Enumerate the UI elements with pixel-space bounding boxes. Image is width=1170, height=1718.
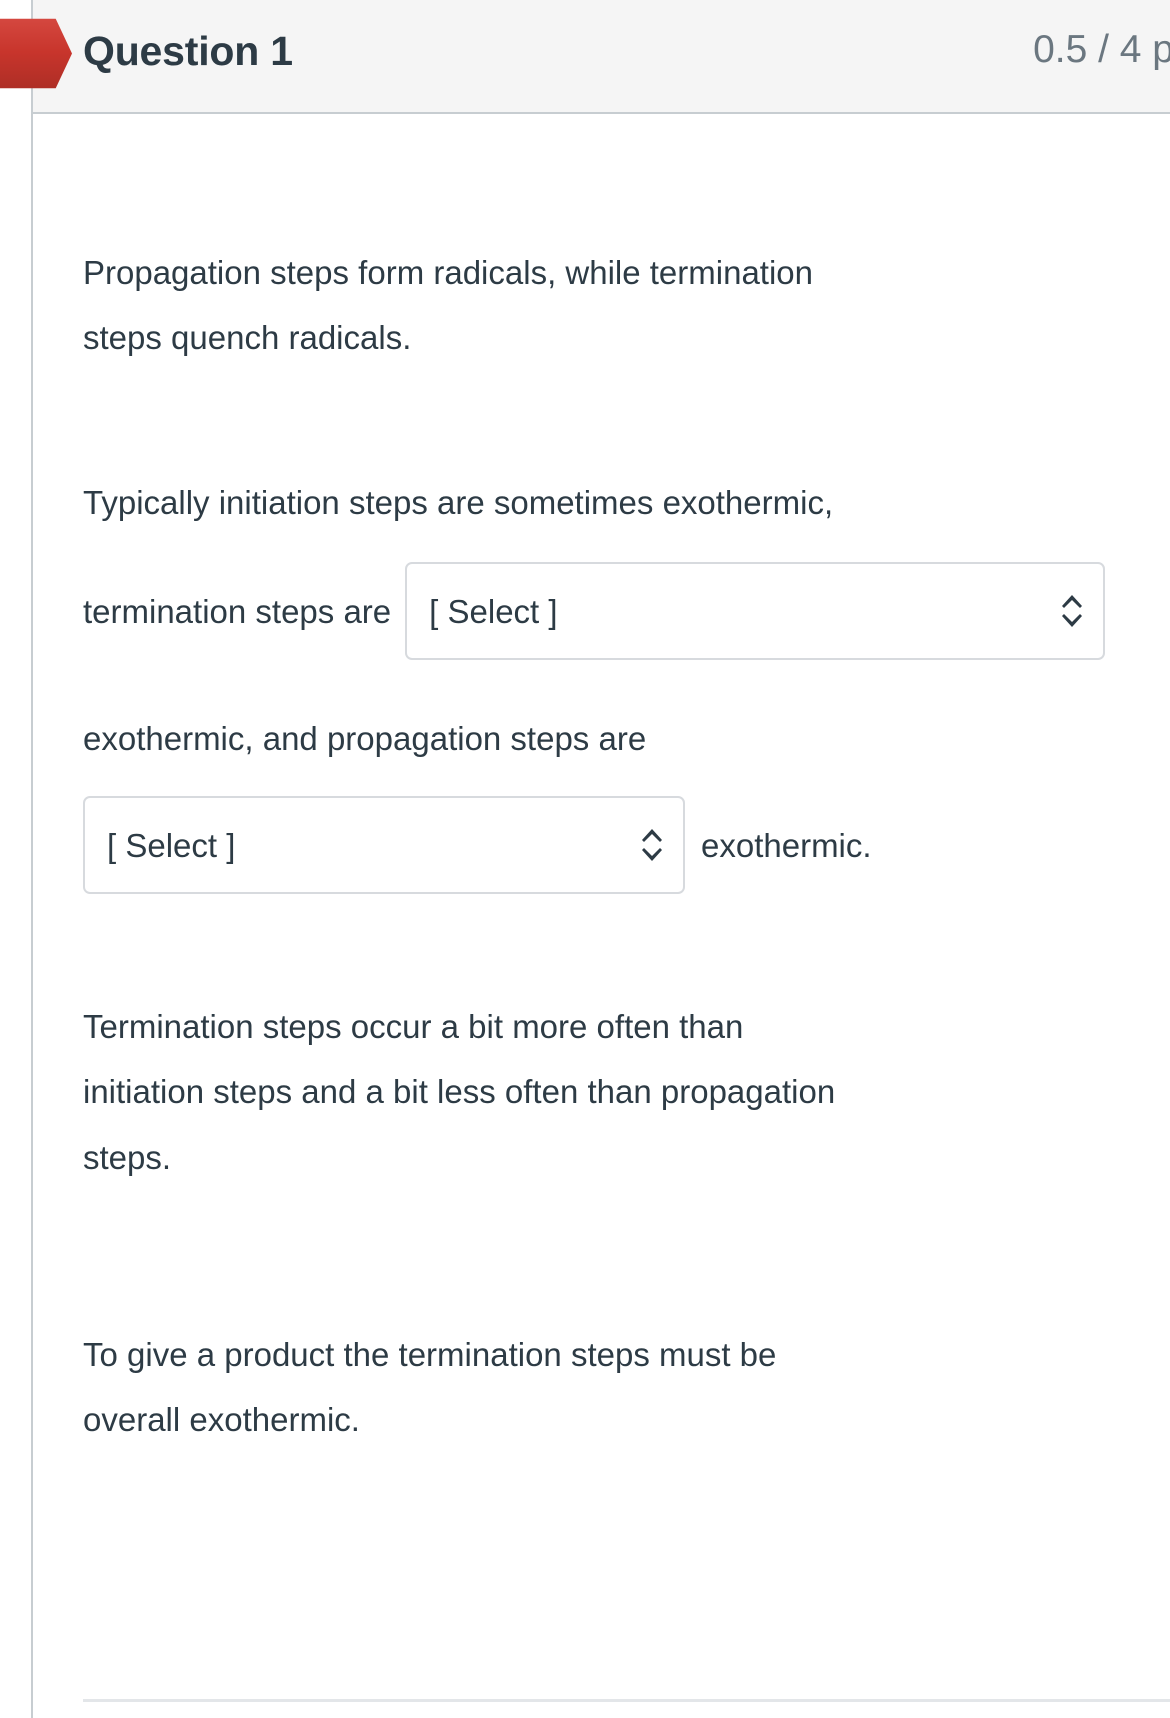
- select-dropdown-2-value: [ Select ]: [107, 829, 617, 862]
- select-dropdown-1-value: [ Select ]: [429, 595, 1037, 628]
- question-paragraph-1: Propagation steps form radicals, while t…: [83, 240, 813, 371]
- paragraph-line: steps quench radicals.: [83, 305, 813, 370]
- paragraph-line: Typically initiation steps are sometimes…: [83, 470, 833, 535]
- dropdown-2-suffix-text: exothermic.: [701, 829, 872, 862]
- chevron-up-down-icon: [1059, 591, 1085, 631]
- question-paragraph-2: Typically initiation steps are sometimes…: [83, 470, 833, 535]
- question-paragraph-2-cont: exothermic, and propagation steps are: [83, 706, 646, 771]
- paragraph-line: Propagation steps form radicals, while t…: [83, 240, 813, 305]
- page-title: Question 1: [83, 28, 293, 75]
- dropdown-line-2: [ Select ] exothermic.: [83, 796, 872, 894]
- chevron-up-down-icon: [639, 825, 665, 865]
- paragraph-line: exothermic, and propagation steps are: [83, 706, 646, 771]
- select-dropdown-2[interactable]: [ Select ]: [83, 796, 685, 894]
- question-body: Propagation steps form radicals, while t…: [33, 116, 1170, 1718]
- paragraph-line: Termination steps occur a bit more often…: [83, 994, 835, 1059]
- question-paragraph-4: To give a product the termination steps …: [83, 1322, 776, 1453]
- select-dropdown-1[interactable]: [ Select ]: [405, 562, 1105, 660]
- points-possible: 0.5 / 4 p: [1033, 28, 1170, 72]
- quiz-question-page: Question 1 0.5 / 4 p Propagation steps f…: [0, 0, 1170, 1718]
- paragraph-line: overall exothermic.: [83, 1387, 776, 1452]
- dropdown-line-1: termination steps are [ Select ]: [83, 562, 1105, 660]
- paragraph-line: steps.: [83, 1125, 835, 1190]
- dropdown-1-prefix-text: termination steps are: [83, 595, 391, 628]
- question-header: Question 1 0.5 / 4 p: [33, 0, 1170, 114]
- paragraph-line: initiation steps and a bit less often th…: [83, 1059, 835, 1124]
- paragraph-line: To give a product the termination steps …: [83, 1322, 776, 1387]
- section-divider: [83, 1699, 1170, 1702]
- question-paragraph-3: Termination steps occur a bit more often…: [83, 994, 835, 1190]
